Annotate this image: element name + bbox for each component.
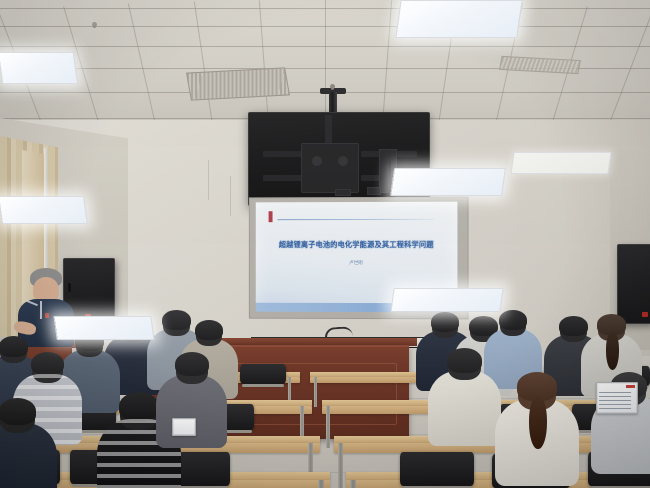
laptop-screen-text-line xyxy=(599,396,631,397)
slide-accent-bar xyxy=(269,211,273,222)
attendee-hair xyxy=(195,320,223,340)
desk-leg xyxy=(326,406,330,448)
audience-laptop-mid[interactable] xyxy=(172,418,196,436)
laptop-screen-accent xyxy=(626,385,635,388)
ceiling-light-7 xyxy=(510,152,611,174)
attendee-torso xyxy=(428,371,501,446)
attendee-hair xyxy=(499,310,527,330)
slide-divider-rule xyxy=(277,219,435,220)
attendee-hair xyxy=(175,352,209,376)
attendee-hair xyxy=(447,348,482,373)
laptop-screen-text-line xyxy=(599,400,631,401)
display-port xyxy=(335,189,351,196)
chair-back xyxy=(240,364,286,384)
laptop-screen xyxy=(174,420,194,434)
attendee-hair xyxy=(162,310,191,330)
attendee-torso xyxy=(156,375,227,448)
ceiling-vent xyxy=(186,67,290,100)
lecture-hall-photo: 超越锂离子电池的电化学能源及其工程科学问题 卢世刚 2024年7月20日 xyxy=(0,0,650,488)
laptop-screen-text-line xyxy=(599,392,631,393)
ceiling-light-2 xyxy=(0,196,88,224)
presenter-badge xyxy=(45,313,49,318)
attendee-hair xyxy=(0,336,28,357)
laptop-screen-text-line xyxy=(599,408,631,409)
speaker-handle-slot xyxy=(68,283,71,292)
desk-leg xyxy=(318,480,324,488)
presenter-shirt-placket xyxy=(40,301,42,319)
attendee-ponytail xyxy=(529,397,546,449)
attendee-hair xyxy=(31,352,64,375)
attendee-hair xyxy=(119,392,160,421)
speaker-logo xyxy=(642,312,648,317)
slide-title: 超越锂离子电池的电化学能源及其工程科学问题 xyxy=(256,240,458,250)
ceiling-light-6 xyxy=(390,288,503,312)
ceiling-light-1 xyxy=(0,52,78,84)
chair-back xyxy=(400,452,474,486)
fire-sprinkler xyxy=(330,84,335,89)
wall-speaker-right xyxy=(617,244,650,324)
wall-seam xyxy=(230,176,231,216)
attendee-torso xyxy=(0,423,57,488)
wall-seam xyxy=(208,160,209,200)
chair-rail xyxy=(242,384,284,387)
desk-leg xyxy=(350,480,356,488)
desk-leg xyxy=(338,443,343,488)
ceiling-light-3 xyxy=(53,316,154,340)
display-vesa-plate xyxy=(301,143,359,193)
attendee-hair xyxy=(431,312,459,332)
attendee-ponytail xyxy=(606,332,619,370)
audience-laptop-right[interactable] xyxy=(596,382,638,414)
ceiling-light-5 xyxy=(390,168,506,196)
desk-leg xyxy=(314,377,317,407)
ceiling-light-4 xyxy=(395,0,522,38)
attendee-hair xyxy=(559,316,588,336)
fire-sprinkler xyxy=(92,22,97,27)
slide-author: 卢世刚 xyxy=(256,260,458,266)
attendee-hair xyxy=(0,398,36,425)
laptop-screen-text-line xyxy=(599,404,631,405)
